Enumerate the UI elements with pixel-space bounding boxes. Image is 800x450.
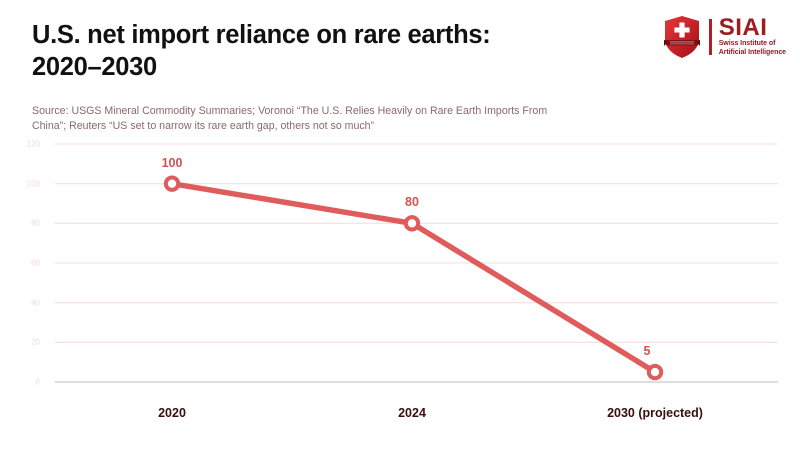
gridlines xyxy=(55,144,778,382)
siai-logo: SIAI Swiss Institute of Artificial Intel… xyxy=(662,14,786,60)
chart-header: U.S. net import reliance on rare earths:… xyxy=(0,0,800,140)
data-point-marker[interactable] xyxy=(166,177,178,189)
x-axis-tick-label: 2024 xyxy=(398,406,426,420)
series-line xyxy=(172,184,655,372)
y-axis-tick-label: 100 xyxy=(0,179,40,188)
x-axis-tick-label: 2030 (projected) xyxy=(607,406,703,420)
data-point-marker[interactable] xyxy=(406,217,418,229)
y-axis-tick-label: 0 xyxy=(0,378,40,387)
logo-subtitle-line2: Artificial Intelligence xyxy=(719,49,786,58)
logo-subtitle-line1: Swiss Institute of xyxy=(719,40,786,49)
page-title: U.S. net import reliance on rare earths:… xyxy=(32,20,632,83)
data-point-value-label: 80 xyxy=(405,195,419,209)
y-axis-tick-label: 80 xyxy=(0,219,40,228)
data-point-value-label: 100 xyxy=(162,156,183,170)
logo-wordmark: SIAI Swiss Institute of Artificial Intel… xyxy=(719,16,786,58)
chart-canvas xyxy=(0,130,800,450)
y-axis-tick-label: 20 xyxy=(0,338,40,347)
data-point-value-label: 5 xyxy=(644,344,651,358)
line-chart: 020406080100120 202020242030 (projected)… xyxy=(0,130,800,450)
swiss-cross-shield-icon xyxy=(662,15,702,59)
y-axis-tick-label: 60 xyxy=(0,259,40,268)
y-axis-tick-label: 40 xyxy=(0,298,40,307)
series-line-group xyxy=(172,184,655,372)
logo-wordmark-text: SIAI xyxy=(719,16,786,40)
logo-divider xyxy=(709,19,712,55)
y-axis-tick-label: 120 xyxy=(0,140,40,149)
data-point-marker[interactable] xyxy=(649,366,661,378)
x-axis-tick-label: 2020 xyxy=(158,406,186,420)
